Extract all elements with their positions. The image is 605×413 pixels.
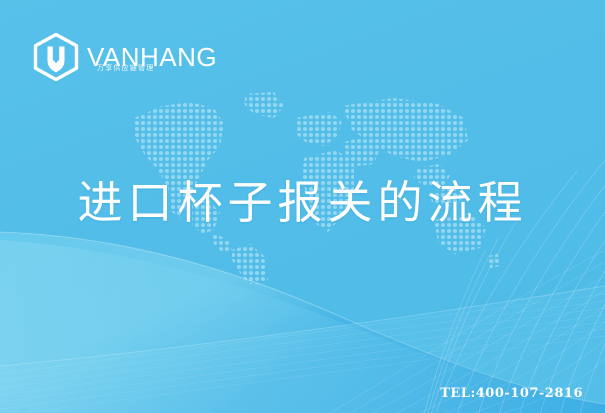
contact-phone: TEL:400-107-2816 bbox=[440, 386, 583, 401]
brand-logo[interactable]: VANHANG 万享供应链管理 bbox=[33, 33, 217, 81]
page-title: 进口杯子报关的流程 bbox=[0, 176, 605, 229]
brand-wordmark-block: VANHANG 万享供应链管理 bbox=[87, 35, 217, 79]
brand-subtitle: 万享供应链管理 bbox=[97, 65, 154, 72]
hexagon-shield-logo-icon bbox=[33, 33, 79, 81]
slide-canvas: VANHANG 万享供应链管理 进口杯子报关的流程 TEL:400-107-28… bbox=[0, 0, 605, 413]
